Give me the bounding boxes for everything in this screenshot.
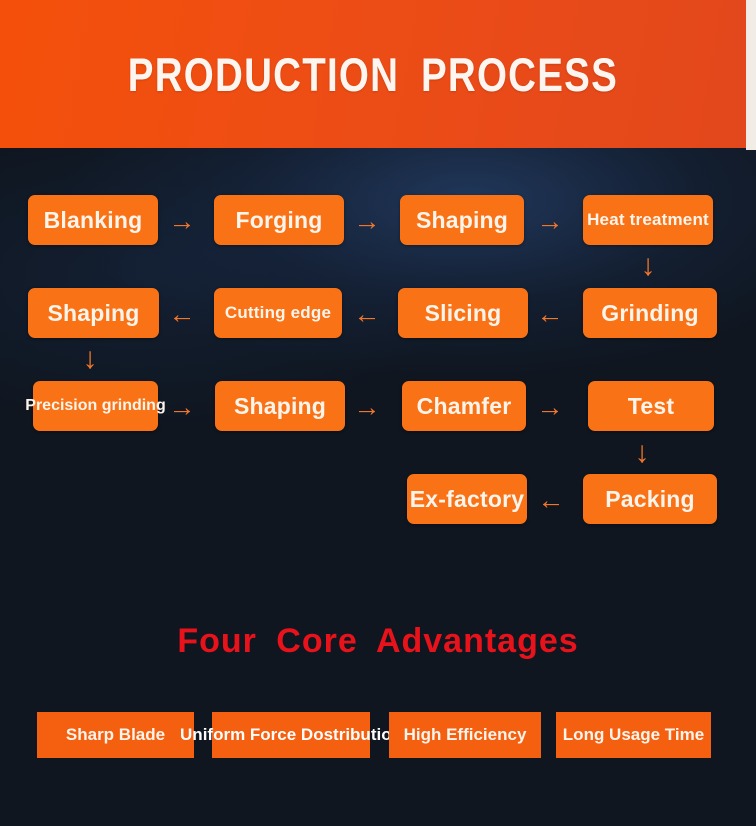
header-right-edge-strip [746, 0, 756, 150]
flow-cell-forging[interactable]: Forging [214, 195, 344, 245]
right-arrow-blanking-to-forging: → [162, 208, 202, 234]
advantage-item-sharp-blade[interactable]: Sharp Blade [37, 712, 194, 758]
flow-cell-blanking[interactable]: Blanking [28, 195, 158, 245]
advantages-section-title: Four Core Advantages [0, 622, 756, 661]
process-box-label: Blanking [44, 207, 143, 234]
process-box[interactable]: Blanking [28, 195, 158, 245]
advantage-label: Sharp Blade [66, 725, 165, 745]
flow-row-4: Ex-factory ← Packing [0, 474, 756, 567]
right-arrow-shaping-to-heat-treatment: → [530, 208, 570, 234]
process-box[interactable]: Heat treatment [583, 195, 713, 245]
page-title: PRODUCTION PROCESS [128, 47, 618, 102]
flow-row-2: Shaping ← Cutting edge ← Slicing ← Grind… [0, 288, 756, 381]
advantage-item-long-usage-time[interactable]: Long Usage Time [556, 712, 711, 758]
flow-cell-packing[interactable]: Packing [583, 474, 717, 524]
process-box[interactable]: Packing [583, 474, 717, 524]
flow-cell-shaping-1[interactable]: Shaping [400, 195, 524, 245]
flow-row-1: Blanking → Forging → Shaping → Heat trea… [0, 195, 756, 288]
advantages-list: Sharp Blade Uniform Force Dostribution H… [0, 712, 756, 758]
process-box[interactable] [33, 381, 158, 431]
flow-cell-test[interactable]: Test [588, 381, 714, 431]
left-arrow-slicing-to-cutting-edge: ← [347, 301, 387, 327]
left-arrow-grinding-to-slicing: ← [530, 301, 570, 327]
down-arrow-heat-treatment-to-grinding: ↓ [633, 247, 663, 285]
process-box[interactable]: Shaping [215, 381, 345, 431]
process-box-label: Chamfer [417, 393, 512, 420]
process-box[interactable]: Chamfer [402, 381, 526, 431]
process-box-label: Grinding [601, 300, 698, 327]
process-flow-chart: Blanking → Forging → Shaping → Heat trea… [0, 195, 756, 567]
advantage-item-uniform-force-distribution[interactable] [212, 712, 370, 758]
down-arrow-shaping-to-precision-grinding: ↓ [75, 340, 105, 378]
advantage-label: High Efficiency [404, 725, 527, 745]
process-box[interactable]: Forging [214, 195, 344, 245]
process-box-label: Slicing [425, 300, 502, 327]
process-box[interactable]: Test [588, 381, 714, 431]
right-arrow-shaping-to-chamfer: → [347, 394, 387, 420]
flow-cell-shaping-2[interactable]: Shaping [28, 288, 159, 338]
flow-cell-chamfer[interactable]: Chamfer [402, 381, 526, 431]
process-box-label: Forging [236, 207, 323, 234]
flow-cell-slicing[interactable]: Slicing [398, 288, 528, 338]
flow-cell-grinding[interactable]: Grinding [583, 288, 717, 338]
process-box[interactable]: Cutting edge [214, 288, 342, 338]
flow-cell-shaping-3[interactable]: Shaping [215, 381, 345, 431]
flow-cell-cutting-edge[interactable]: Cutting edge [214, 288, 342, 338]
production-process-infographic: PRODUCTION PROCESS Blanking → Forging → … [0, 0, 756, 826]
process-box[interactable]: Shaping [400, 195, 524, 245]
left-arrow-cutting-edge-to-shaping: ← [162, 301, 202, 327]
process-box[interactable]: Shaping [28, 288, 159, 338]
flow-row-3: Precision grinding → Shaping → Chamfer →… [0, 381, 756, 474]
flow-cell-heat-treatment[interactable]: Heat treatment [583, 195, 713, 245]
process-box[interactable]: Ex-factory [407, 474, 527, 524]
process-box-label: Test [628, 393, 674, 420]
right-arrow-precision-grinding-to-shaping: → [162, 394, 202, 420]
process-box-label: Shaping [47, 300, 139, 327]
down-arrow-test-to-packing: ↓ [627, 434, 657, 472]
right-arrow-chamfer-to-test: → [530, 394, 570, 420]
flow-cell-ex-factory[interactable]: Ex-factory [407, 474, 527, 524]
process-box-label: Shaping [416, 207, 508, 234]
left-arrow-packing-to-ex-factory: ← [531, 487, 571, 513]
process-box[interactable]: Grinding [583, 288, 717, 338]
right-arrow-forging-to-shaping: → [347, 208, 387, 234]
process-box-label: Shaping [234, 393, 326, 420]
process-box[interactable]: Slicing [398, 288, 528, 338]
flow-cell-precision-grinding[interactable] [33, 381, 158, 431]
process-box-label: Ex-factory [410, 486, 524, 513]
header-banner: PRODUCTION PROCESS [0, 0, 746, 148]
advantage-item-high-efficiency[interactable]: High Efficiency [389, 712, 541, 758]
process-box-label: Cutting edge [225, 303, 331, 323]
process-box-label: Packing [605, 486, 695, 513]
advantage-label: Long Usage Time [563, 725, 704, 745]
process-box-label: Heat treatment [587, 210, 709, 230]
